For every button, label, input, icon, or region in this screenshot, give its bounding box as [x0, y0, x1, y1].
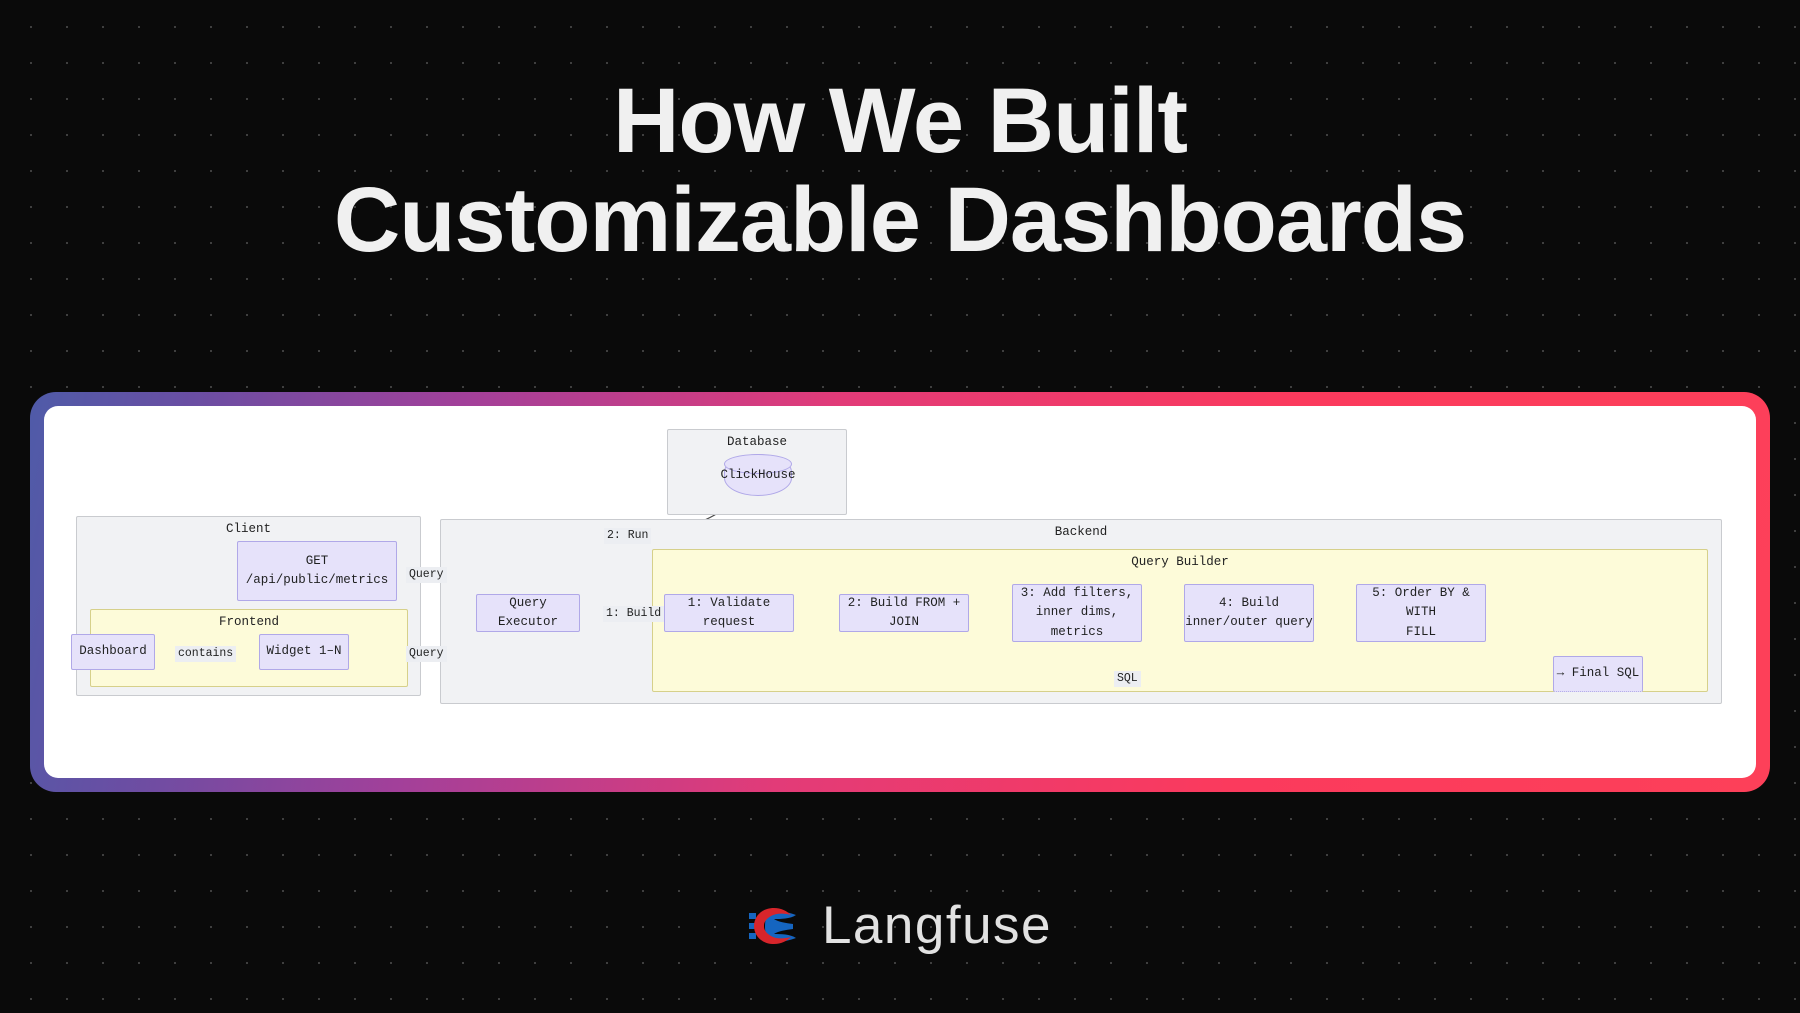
node-dashboard: Dashboard [71, 634, 155, 670]
node-step-5-order-by-fill: 5: Order BY & WITH FILL [1356, 584, 1486, 642]
node-step-2-build-from-join: 2: Build FROM + JOIN [839, 594, 969, 632]
node-step-4-line-2: inner/outer query [1185, 613, 1313, 632]
edge-label-contains: contains [175, 646, 236, 662]
edge-label-query-bottom: Query [406, 646, 447, 662]
node-get-line-2: /api/public/metrics [246, 571, 389, 590]
node-step-5-line-1: 5: Order BY & WITH [1357, 584, 1485, 623]
node-final-sql: → Final SQL [1553, 656, 1643, 692]
footer-brand: Langfuse [0, 895, 1800, 956]
node-step-1-validate: 1: Validate request [664, 594, 794, 632]
architecture-diagram: Client GET /api/public/metrics Frontend … [44, 406, 1756, 778]
group-frontend-label: Frontend [91, 615, 407, 629]
page-title: How We Built Customizable Dashboards [0, 72, 1800, 271]
brand-name: Langfuse [822, 895, 1052, 956]
node-query-executor: Query Executor [476, 594, 580, 632]
page-title-line-2: Customizable Dashboards [0, 171, 1800, 270]
node-clickhouse-label: ClickHouse [721, 468, 796, 482]
node-query-executor-label: Query Executor [477, 594, 579, 633]
edge-label-sql: SQL [1114, 671, 1141, 687]
node-step-5-line-2: FILL [1406, 623, 1436, 642]
node-step-4-build-query: 4: Build inner/outer query [1184, 584, 1314, 642]
diagram-card: Client GET /api/public/metrics Frontend … [44, 406, 1756, 778]
node-get-line-1: GET [306, 552, 329, 571]
edge-label-run: 2: Run [604, 528, 651, 544]
group-query-builder-label: Query Builder [653, 555, 1707, 569]
node-widget: Widget 1–N [259, 634, 349, 670]
edge-label-build: 1: Build [603, 606, 664, 622]
node-final-sql-label: → Final SQL [1557, 664, 1640, 683]
group-query-builder: Query Builder [652, 549, 1708, 692]
node-get-endpoint: GET /api/public/metrics [237, 541, 397, 601]
gradient-frame: Client GET /api/public/metrics Frontend … [30, 392, 1770, 792]
group-client-label: Client [77, 522, 420, 536]
langfuse-logo-icon [748, 904, 800, 948]
page-title-line-1: How We Built [0, 72, 1800, 171]
node-dashboard-label: Dashboard [79, 642, 147, 661]
node-step-3-line-2: inner dims, metrics [1013, 603, 1141, 642]
node-widget-label: Widget 1–N [266, 642, 341, 661]
edge-label-query-top: Query [406, 567, 447, 583]
node-step-3-line-1: 3: Add filters, [1021, 584, 1134, 603]
node-step-4-line-1: 4: Build [1219, 594, 1279, 613]
node-step-1-label: 1: Validate request [665, 594, 793, 633]
node-clickhouse: ClickHouse [724, 454, 792, 496]
node-step-3-add-filters: 3: Add filters, inner dims, metrics [1012, 584, 1142, 642]
group-database-label: Database [668, 435, 846, 449]
node-step-2-label: 2: Build FROM + JOIN [840, 594, 968, 633]
